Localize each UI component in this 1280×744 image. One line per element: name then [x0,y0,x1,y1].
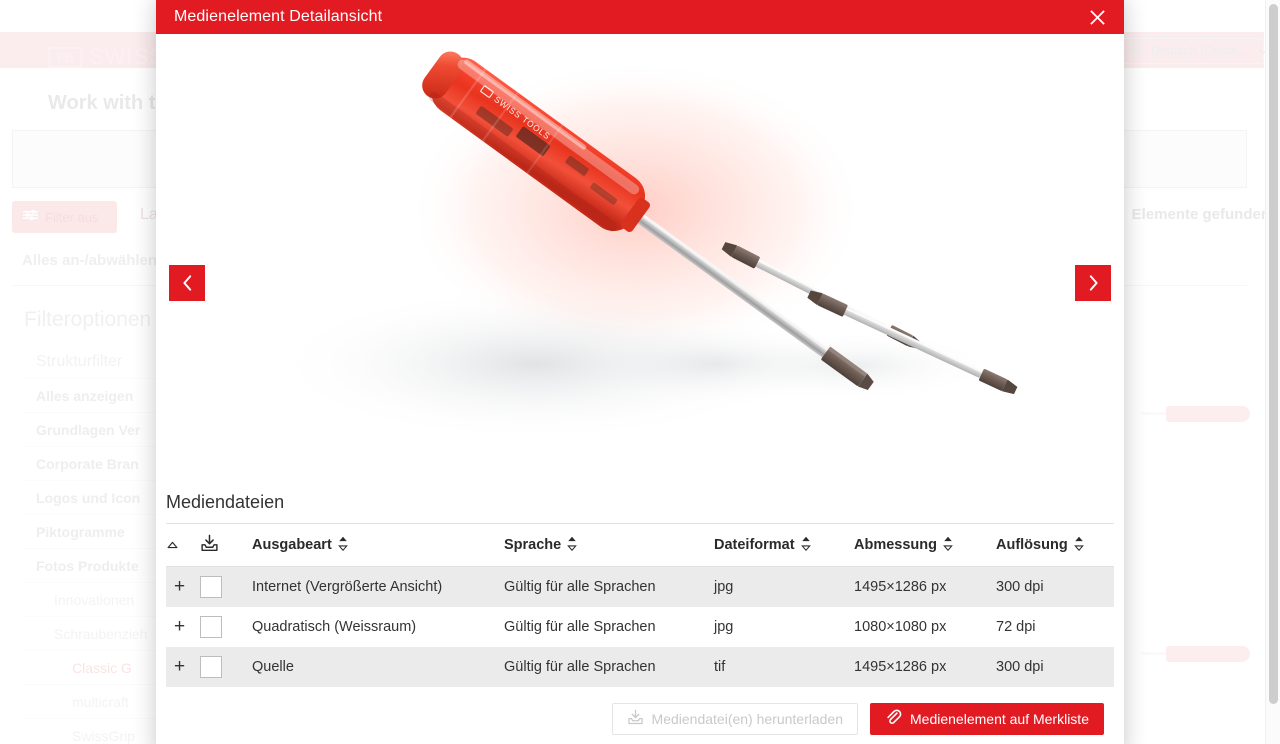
media-files-title: Mediendateien [166,478,1114,523]
app-root: PB SWISS TOOLS Deutsch (Deuts… Work with… [0,0,1280,744]
cell-ausgabeart: Quelle [252,647,504,687]
row-select-cell[interactable] [200,647,252,687]
column-abmessung[interactable]: Abmessung [854,524,996,567]
cell-sprache: Gültig für alle Sprachen [504,567,714,607]
filter-toggle-button[interactable]: Filter aus [12,201,117,233]
cell-aufloesung: 300 dpi [996,647,1114,687]
expand-row-icon[interactable]: + [174,617,188,636]
media-files-table: Ausgabeart Sprache [166,523,1114,687]
row-expand-cell[interactable]: + [166,567,200,607]
filter-options-title: Filteroptionen [24,308,151,332]
media-viewer: SWISS TOOLS [156,34,1124,478]
background-result-thumbnail[interactable] [1140,400,1260,430]
sort-icon [801,536,811,555]
row-expand-cell[interactable]: + [166,607,200,647]
expand-row-icon[interactable]: + [174,577,188,596]
sliders-icon [23,208,38,226]
page-scrollbar[interactable] [1265,0,1280,744]
table-row[interactable]: + Quelle Gültig für alle Sprachen tif 14… [166,647,1114,687]
cell-sprache: Gültig für alle Sprachen [504,607,714,647]
filter-toggle-label: Filter aus [45,210,98,225]
row-checkbox[interactable] [200,576,222,598]
globe-icon [1128,41,1143,61]
expand-row-icon[interactable]: + [174,657,188,676]
column-expand-all[interactable] [166,524,200,567]
column-aufloesung[interactable]: Auflösung [996,524,1114,567]
sort-icon [567,536,577,555]
results-count-label: Elemente gefunden [1132,206,1270,223]
download-tray-icon [627,709,644,728]
sort-icon [943,536,953,555]
cell-dateiformat: tif [714,647,854,687]
row-checkbox[interactable] [200,656,222,678]
cell-sprache: Gültig für alle Sprachen [504,647,714,687]
cell-aufloesung: 300 dpi [996,567,1114,607]
cell-abmessung: 1495×1286 px [854,567,996,607]
modal-title: Medienelement Detailansicht [174,8,382,26]
column-label: Ausgabeart [252,537,332,553]
scrollbar-thumb[interactable] [1269,4,1278,704]
table-header-row: Ausgabeart Sprache [166,524,1114,567]
add-to-watchlist-label: Medienelement auf Merkliste [910,711,1089,727]
sort-icon [1074,536,1084,555]
column-sprache[interactable]: Sprache [504,524,714,567]
column-label: Abmessung [854,537,937,553]
table-row[interactable]: + Quadratisch (Weissraum) Gültig für all… [166,607,1114,647]
modal-header: Medienelement Detailansicht [156,0,1124,34]
download-tray-icon [200,534,219,552]
table-row[interactable]: + Internet (Vergrößerte Ansicht) Gültig … [166,567,1114,607]
cell-dateiformat: jpg [714,567,854,607]
sort-icon [338,536,348,555]
download-files-label: Mediendatei(en) herunterladen [652,711,843,727]
cell-aufloesung: 72 dpi [996,607,1114,647]
chevron-right-icon [1088,275,1099,291]
select-all-toggle[interactable]: Alles an-/abwählen [22,252,157,269]
column-label: Auflösung [996,537,1068,553]
row-checkbox[interactable] [200,616,222,638]
add-to-watchlist-button[interactable]: Medienelement auf Merkliste [870,703,1104,735]
close-icon[interactable] [1084,4,1110,30]
column-label: Sprache [504,537,561,553]
cell-abmessung: 1495×1286 px [854,647,996,687]
language-value: Deutsch (Deuts… [1151,44,1250,58]
download-files-button[interactable]: Mediendatei(en) herunterladen [612,703,858,735]
column-ausgabeart[interactable]: Ausgabeart [252,524,504,567]
media-detail-modal: Medienelement Detailansicht [156,0,1124,744]
cell-dateiformat: jpg [714,607,854,647]
chevron-left-icon [182,275,193,291]
column-dateiformat[interactable]: Dateiformat [714,524,854,567]
next-media-button[interactable] [1075,265,1111,301]
media-preview-image: SWISS TOOLS [156,34,1124,478]
background-result-thumbnail[interactable] [1140,640,1260,670]
cell-ausgabeart: Quadratisch (Weissraum) [252,607,504,647]
media-files-section: Mediendateien [156,478,1124,744]
pb-logo-mark: PB [48,47,82,68]
row-expand-cell[interactable]: + [166,647,200,687]
collapse-triangle-icon [166,541,179,549]
column-label: Dateiformat [714,537,795,553]
column-download-all[interactable] [200,524,252,567]
cell-ausgabeart: Internet (Vergrößerte Ansicht) [252,567,504,607]
language-selector[interactable]: Deutsch (Deuts… [1119,38,1264,64]
cell-abmessung: 1080×1080 px [854,607,996,647]
modal-actions: Mediendatei(en) herunterladen Medienelem… [166,687,1114,744]
row-select-cell[interactable] [200,607,252,647]
previous-media-button[interactable] [169,265,205,301]
row-select-cell[interactable] [200,567,252,607]
paperclip-icon [885,709,902,729]
